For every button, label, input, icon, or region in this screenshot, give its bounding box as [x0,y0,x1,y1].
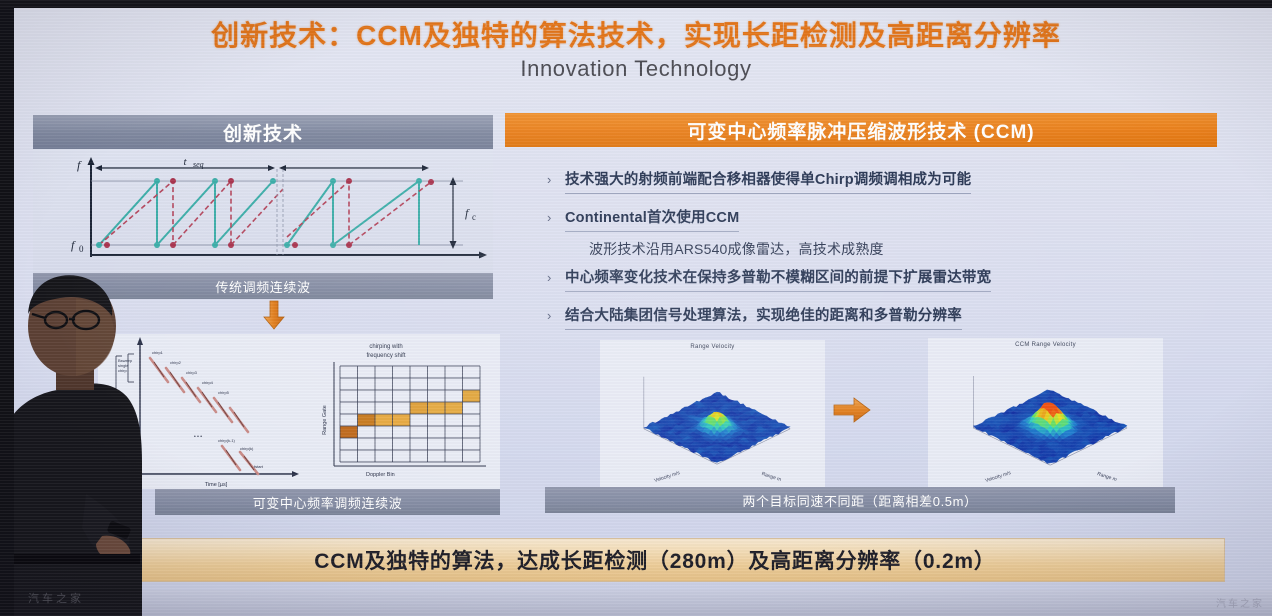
plot-ccm-range-velocity-title: CCM Range Velocity [928,342,1163,348]
svg-text:chirp(k): chirp(k) [240,446,254,451]
svg-text:0: 0 [79,244,84,254]
bullet-label: 技术强大的射频前端配合移相器使得单Chirp调频调相成为可能 [565,170,971,194]
bullet-sub-note: 波形技术沿用ARS540成像雷达，高技术成熟度 [545,239,1205,259]
slide-title-cn: 创新技术：CCM及独特的算法技术，实现长距检测及高距离分辨率 [0,20,1272,52]
plot-range-velocity-title: Range Velocity [600,344,825,350]
svg-text:f: f [465,206,470,220]
svg-text:c: c [472,212,476,222]
bullet-label: 中心频率变化技术在保持多普勒不模糊区间的前提下扩展雷达带宽 [565,268,991,292]
plot-ccm-range-velocity: CCM Range Velocity Velocity m/sRange m [928,338,1163,488]
caption-two-targets-label: 两个目标同速不同距（距离相差0.5m） [742,491,977,510]
down-arrow-icon [263,300,285,330]
right-arrow-icon [833,395,871,425]
bullet-label: Continental首次使用CCM [565,208,739,232]
svg-text:Range m: Range m [761,471,782,483]
caption-ccm-waveform-label: 可变中心频率调频连续波 [253,493,403,512]
svg-text:Velocity m/s: Velocity m/s [985,470,1013,484]
svg-text:f: f [71,238,76,252]
svg-text:Range m: Range m [1096,471,1117,483]
bullet-label: 结合大陆集团信号处理算法，实现绝佳的距离和多普勒分辨率 [565,306,962,330]
svg-text:Doppler Bin: Doppler Bin [366,472,395,478]
room-top-edge [0,0,1272,8]
bullet-item: › Continental首次使用CCM [545,208,1205,232]
presenter-silhouette [0,258,230,616]
ccm-range-velocity-surface-svg: Velocity m/sRange m [928,338,1163,488]
summary-banner-label: CCM及独特的算法，达成长距检测（280m）及高距离分辨率（0.2m） [314,545,995,575]
bullet-list: › 技术强大的射频前端配合移相器使得单Chirp调频调相成为可能 › Conti… [545,170,1205,333]
svg-text:frequency shift: frequency shift [366,353,405,359]
summary-banner: CCM及独特的算法，达成长距检测（280m）及高距离分辨率（0.2m） [85,538,1225,582]
chart-traditional-fmcw: t seq f c f f 0 [33,149,493,273]
svg-text:t: t [183,156,187,168]
left-panel-header-label: 创新技术 [223,119,303,146]
slide-title-block: 创新技术：CCM及独特的算法技术，实现长距检测及高距离分辨率 Innovatio… [0,20,1272,82]
chevron-right-icon: › [547,170,552,190]
svg-text:Range Gate: Range Gate [322,405,328,435]
slide-title-en: Innovation Technology [0,56,1272,82]
svg-text:chirping with: chirping with [369,344,402,350]
chevron-right-icon: › [547,208,552,228]
right-panel-header: 可变中心频率脉冲压缩波形技术 (CCM) [505,113,1217,147]
bullet-item: › 技术强大的射频前端配合移相器使得单Chirp调频调相成为可能 [545,170,1205,194]
bullet-item: › 中心频率变化技术在保持多普勒不模糊区间的前提下扩展雷达带宽 [545,268,1205,292]
range-velocity-surface-svg: Velocity m/sRange m [600,340,825,488]
left-panel-header: 创新技术 [33,115,493,149]
right-panel-header-label: 可变中心频率脉冲压缩波形技术 (CCM) [687,117,1034,144]
caption-two-targets: 两个目标同速不同距（距离相差0.5m） [545,487,1175,513]
chevron-right-icon: › [547,268,552,288]
chevron-right-icon: › [547,306,552,326]
fmcw-sawtooth-svg: t seq f c f f 0 [33,149,493,273]
bullet-item: › 结合大陆集团信号处理算法，实现绝佳的距离和多普勒分辨率 [545,306,1205,330]
svg-text:seq: seq [193,160,204,169]
projected-slide: 创新技术：CCM及独特的算法技术，实现长距检测及高距离分辨率 Innovatio… [0,0,1272,616]
svg-text:fstart: fstart [254,464,264,469]
plot-range-velocity: Range Velocity Velocity m/sRange m [600,340,825,488]
watermark-right: 汽车之家 [1216,595,1264,610]
svg-text:f: f [77,158,82,172]
watermark-left: 汽车之家 [28,590,84,606]
room-left-edge [0,0,14,616]
svg-text:Velocity m/s: Velocity m/s [654,470,682,484]
